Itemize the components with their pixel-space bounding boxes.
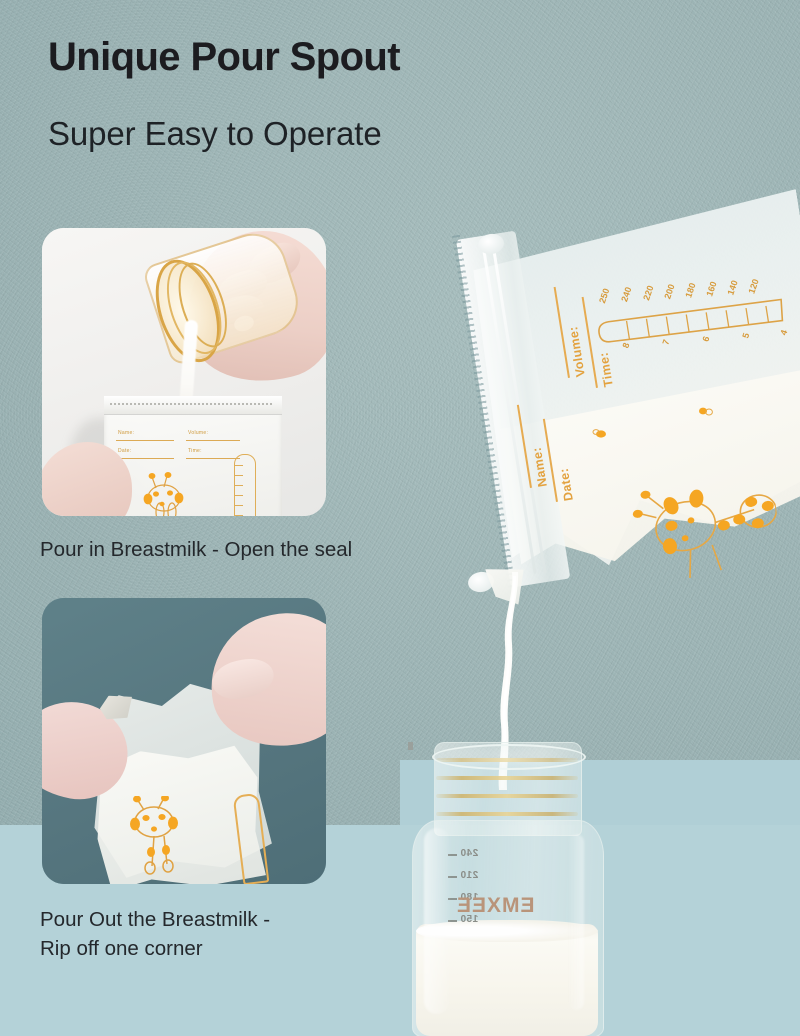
bag-field-date: Date: xyxy=(118,448,131,454)
bag-zipper xyxy=(110,403,274,405)
step-2-caption: Pour Out the Breastmilk - Rip off one co… xyxy=(40,905,270,963)
step-1-caption: Pour in Breastmilk - Open the seal xyxy=(40,535,352,564)
bottle-highlight xyxy=(424,828,450,1014)
bag-measurement-scale xyxy=(234,454,256,516)
bottle-mark-210: 210 xyxy=(460,870,478,881)
bottle-rim xyxy=(432,744,586,770)
bottle-thread xyxy=(436,812,578,816)
page-subtitle: Super Easy to Operate xyxy=(48,117,382,150)
bag-field-rule xyxy=(186,440,240,441)
step-1-image-card: Name: Date: Volume: Time: xyxy=(42,228,326,516)
bag-field-name: Name: xyxy=(118,430,134,436)
bottle-mark-240: 240 xyxy=(460,848,478,859)
page-title: Unique Pour Spout xyxy=(48,37,400,77)
bag-field-volume: Volume: xyxy=(188,430,208,436)
product-infographic: Unique Pour Spout Super Easy to Operate … xyxy=(0,0,800,1036)
bottle-thread xyxy=(436,776,578,780)
bottle-brand-label: EMXEE xyxy=(456,894,535,918)
step-2-image-card xyxy=(42,598,326,884)
bag-field-rule xyxy=(116,458,174,459)
giraffe-icon xyxy=(134,468,198,516)
bag-field-rule xyxy=(186,458,240,459)
glass-bottle: 240 210 180 150 EMXEE xyxy=(408,742,604,1036)
giraffe-icon xyxy=(622,463,785,592)
giraffe-icon xyxy=(120,796,204,876)
bag-field-rule xyxy=(116,440,174,441)
bag-seal xyxy=(104,396,282,415)
bottle-highlight xyxy=(568,834,584,1010)
bottle-thread xyxy=(436,794,578,798)
bag-field-time: Time: xyxy=(188,448,202,454)
bee-icon xyxy=(592,428,608,439)
butterfly-icon xyxy=(698,406,714,417)
